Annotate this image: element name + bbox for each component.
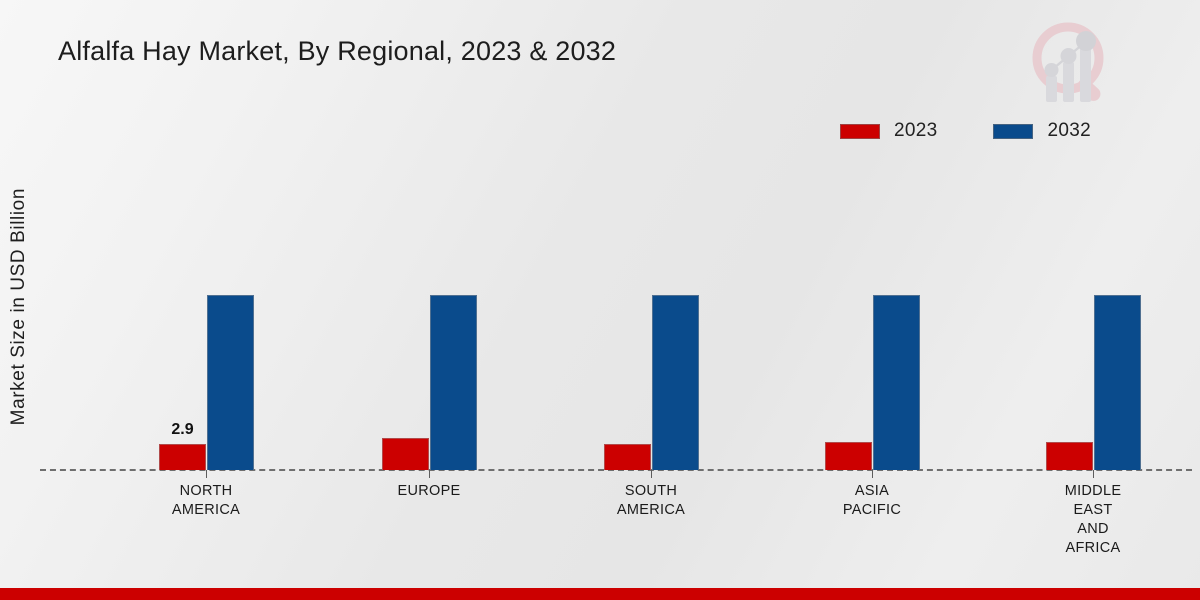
x-axis-category-label: MIDDLEEASTANDAFRICA — [1065, 482, 1122, 558]
y-axis-title-text: Market Size in USD Billion — [8, 188, 30, 425]
bar-2032[interactable] — [430, 295, 477, 470]
legend-swatch-2023 — [840, 124, 880, 139]
x-axis-tick — [872, 470, 873, 478]
bar-2032[interactable] — [873, 295, 920, 470]
bar-2023[interactable]: 2.9 — [159, 444, 206, 470]
x-axis-category-label: SOUTHAMERICA — [617, 482, 685, 520]
category-label-line: AFRICA — [1065, 539, 1122, 558]
bar-group: EUROPE — [328, 180, 528, 470]
bar-value-label: 2.9 — [171, 421, 193, 439]
bar-groups: 2.9NORTHAMERICAEUROPESOUTHAMERICAASIAPAC… — [40, 180, 1200, 470]
plot-area: 2.9NORTHAMERICAEUROPESOUTHAMERICAASIAPAC… — [40, 180, 1200, 480]
bar-group: ASIAPACIFIC — [771, 180, 971, 470]
category-label-line: NORTH — [172, 482, 240, 501]
category-label-line: ASIA — [843, 482, 901, 501]
category-label-line: EAST — [1065, 501, 1122, 520]
category-label-line: PACIFIC — [843, 501, 901, 520]
bar-group: SOUTHAMERICA — [550, 180, 750, 470]
bar-2032[interactable] — [207, 295, 254, 470]
bar-2032[interactable] — [652, 295, 699, 470]
bar-2023[interactable] — [1046, 442, 1093, 470]
page-title: Alfalfa Hay Market, By Regional, 2023 & … — [58, 36, 616, 67]
category-label-line: SOUTH — [617, 482, 685, 501]
watermark-logo — [1018, 14, 1122, 110]
category-label-line: AMERICA — [172, 501, 240, 520]
bar-2023[interactable] — [604, 444, 651, 470]
category-label-line: AND — [1065, 520, 1122, 539]
footer-accent-strip — [0, 588, 1200, 600]
legend-swatch-2032 — [993, 124, 1033, 139]
x-axis-tick — [206, 470, 207, 478]
legend-item-2023[interactable]: 2023 — [840, 120, 937, 142]
category-label-line: AMERICA — [617, 501, 685, 520]
legend-item-2032[interactable]: 2032 — [993, 120, 1090, 142]
y-axis-title: Market Size in USD Billion — [2, 188, 36, 548]
x-axis-tick — [1093, 470, 1094, 478]
category-label-line: MIDDLE — [1065, 482, 1122, 501]
x-axis-category-label: EUROPE — [397, 482, 460, 501]
legend-label-2032: 2032 — [1047, 120, 1090, 142]
bar-group: MIDDLEEASTANDAFRICA — [992, 180, 1192, 470]
bar-2023[interactable] — [382, 438, 429, 470]
category-label-line: EUROPE — [397, 482, 460, 501]
x-axis-tick — [651, 470, 652, 478]
x-axis-category-label: NORTHAMERICA — [172, 482, 240, 520]
x-axis-category-label: ASIAPACIFIC — [843, 482, 901, 520]
bar-group: 2.9NORTHAMERICA — [105, 180, 305, 470]
chart-legend: 2023 2032 — [840, 120, 1091, 142]
x-axis-tick — [429, 470, 430, 478]
legend-label-2023: 2023 — [894, 120, 937, 142]
bar-2023[interactable] — [825, 442, 872, 470]
bar-2032[interactable] — [1094, 295, 1141, 470]
